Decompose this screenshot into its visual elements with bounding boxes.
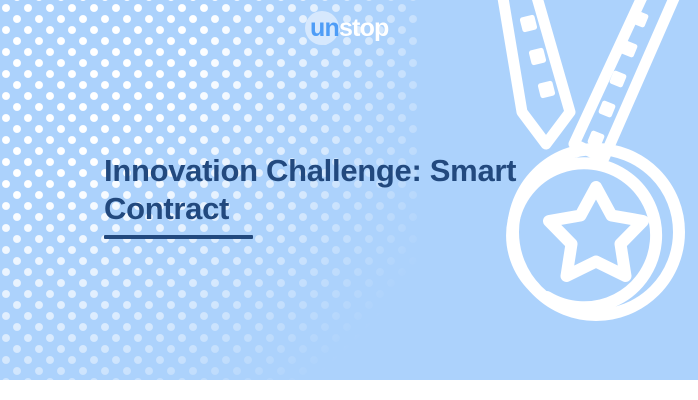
ribbon-strap-right [574,0,682,158]
title-block: Innovation Challenge: Smart Contract [104,152,624,239]
page-title: Innovation Challenge: Smart Contract [104,152,624,228]
ribbon-strap-left-cutouts [519,14,555,98]
logo-text-un: un [310,14,339,42]
ribbon-strap-right-cutouts [587,10,649,148]
banner-stage: unstop Innovation Challenge: Smart Contr… [0,0,698,380]
logo-wordmark: unstop [303,10,389,46]
logo-text-stop: stop [339,14,389,42]
unstop-banner: unstop Innovation Challenge: Smart Contr… [0,0,698,400]
title-underline-rule [104,235,253,239]
unstop-logo[interactable]: unstop [303,10,403,46]
ribbon-strap-left [500,0,570,144]
